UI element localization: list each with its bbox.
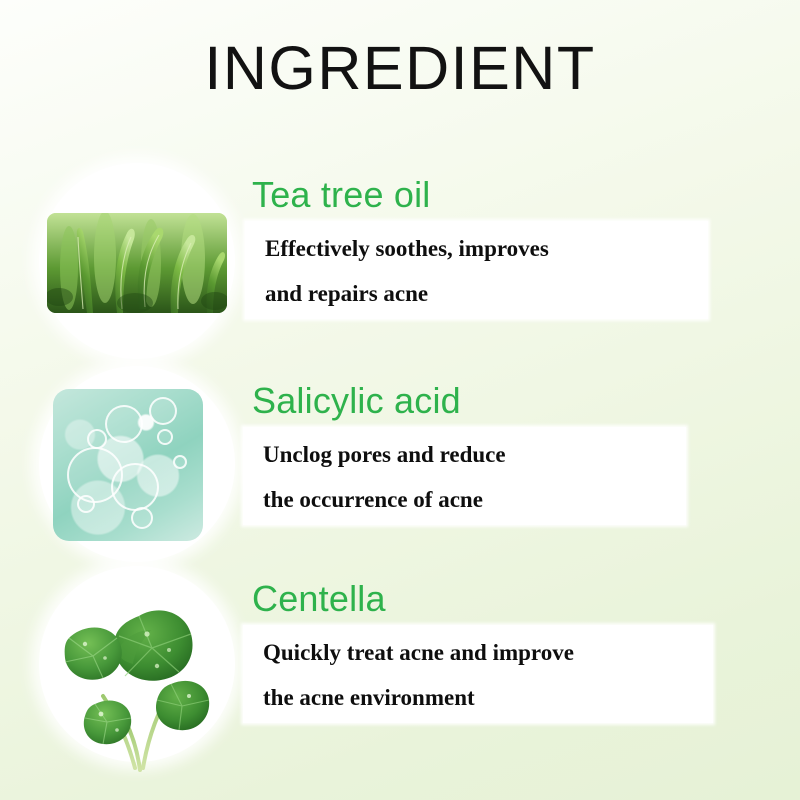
ingredient-description-panel: Quickly treat acne and improve the acne … xyxy=(243,625,713,723)
bubble-shape xyxy=(87,429,107,449)
bubble-shape xyxy=(173,455,187,469)
ingredient-row: Salicylic acid Unclog pores and reduce t… xyxy=(0,353,800,573)
ingredient-row: Centella Quickly treat acne and improve … xyxy=(0,553,800,773)
centella-plant-photo xyxy=(39,572,235,786)
bubble-shape xyxy=(149,397,177,425)
ingredient-image-circle xyxy=(39,163,235,359)
bubble-shape xyxy=(157,429,173,445)
ingredient-row: Tea tree oil Effectively soothes, improv… xyxy=(0,150,800,370)
ingredient-text-block: Centella Quickly treat acne and improve … xyxy=(245,580,765,723)
ingredient-image-circle xyxy=(39,566,235,762)
bubble-shape xyxy=(131,507,153,529)
description-line: Unclog pores and reduce xyxy=(263,443,668,466)
ingredient-text-block: Tea tree oil Effectively soothes, improv… xyxy=(245,176,765,319)
tea-leaves-photo xyxy=(47,213,227,313)
ingredient-description-panel: Effectively soothes, improves and repair… xyxy=(245,221,708,319)
ingredient-poster: INGREDIENT xyxy=(0,0,800,800)
description-line: and repairs acne xyxy=(265,282,690,305)
ingredient-name: Salicylic acid xyxy=(245,382,765,421)
description-line: Quickly treat acne and improve xyxy=(263,641,695,664)
bubble-shape xyxy=(105,405,143,443)
description-line: Effectively soothes, improves xyxy=(265,237,690,260)
bubble-shape xyxy=(77,495,95,513)
gel-bubbles-photo xyxy=(53,389,203,541)
ingredient-name: Centella xyxy=(245,580,765,619)
ingredient-description-panel: Unclog pores and reduce the occurrence o… xyxy=(243,427,686,525)
page-title: INGREDIENT xyxy=(0,38,800,99)
description-line: the occurrence of acne xyxy=(263,488,668,511)
ingredient-name: Tea tree oil xyxy=(245,176,765,215)
centella-plant-illustration xyxy=(39,572,235,786)
description-line: the acne environment xyxy=(263,686,695,709)
ingredient-text-block: Salicylic acid Unclog pores and reduce t… xyxy=(245,382,765,525)
ingredient-image-circle xyxy=(39,366,235,562)
bubble-shape xyxy=(111,463,159,511)
tea-leaves-illustration xyxy=(47,213,227,313)
